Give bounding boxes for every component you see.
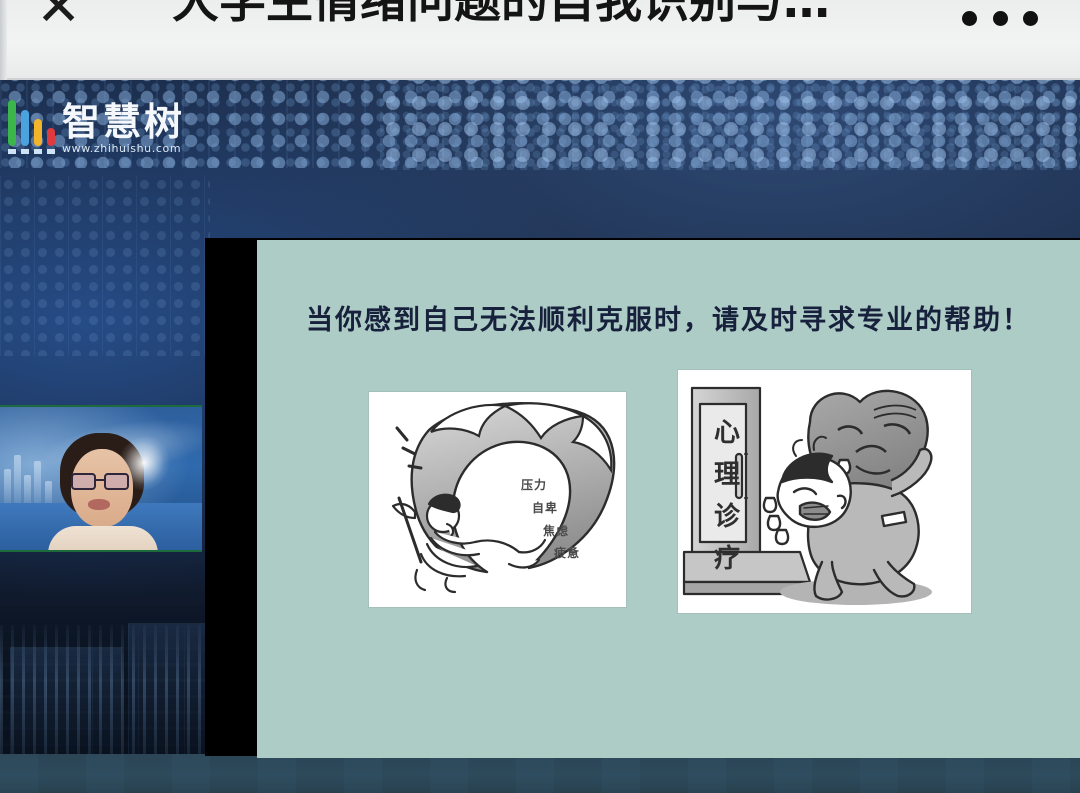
wave-label-2: 自卑 — [532, 499, 558, 516]
close-x-icon[interactable]: ✕ — [36, 0, 80, 36]
backdrop-grid-left — [0, 176, 210, 356]
brand-name: 智慧树 — [62, 102, 185, 142]
avatar — [44, 433, 162, 552]
wave-label-3: 焦虑 — [543, 522, 569, 539]
backdrop-data-dots-top-right — [380, 80, 1080, 170]
carrying-heavy-heart-to-clinic-cartoon: 心 理 诊 疗 — [678, 370, 971, 613]
clinic-sign-char-2: 理 — [704, 454, 750, 491]
slide-headline: 当你感到自己无法顺利克服时，请及时寻求专业的帮助！ — [257, 298, 1080, 337]
page-title: 大学生情绪问题的自我识别与… — [172, 0, 862, 34]
overwhelmed-by-wave-cartoon: 压力 自卑 焦虑 疲惫 — [369, 392, 626, 607]
more-dot-1 — [962, 11, 977, 26]
brand-watermark: 智慧树 www.zhihuishu.com — [6, 94, 185, 156]
wave-label-4: 疲惫 — [554, 544, 580, 561]
backdrop-bottom-band — [0, 754, 1080, 793]
presenter-webcam-thumbnail[interactable] — [0, 405, 202, 552]
video-lecture-player: ✕ 大学生情绪问题的自我识别与… — [0, 0, 1080, 793]
presenter-glasses — [71, 473, 135, 490]
presentation-slide[interactable]: 当你感到自己无法顺利克服时，请及时寻求专业的帮助！ — [257, 240, 1080, 758]
clinic-sign-char-4: 疗 — [704, 538, 750, 575]
more-dot-2 — [993, 11, 1008, 26]
wave-label-1: 压力 — [521, 476, 547, 493]
clinic-sign-char-1: 心 — [704, 412, 750, 449]
presenter-mouth — [88, 499, 110, 510]
app-titlebar: ✕ 大学生情绪问题的自我识别与… — [0, 0, 1080, 80]
more-options-icon[interactable] — [962, 2, 1038, 34]
presenter-shoulders — [48, 526, 158, 552]
bar-chart-logo-icon — [6, 100, 58, 156]
titlebar-left-edge — [0, 0, 7, 80]
clinic-sign-char-3: 诊 — [704, 496, 750, 533]
brand-url: www.zhihuishu.com — [62, 142, 185, 156]
video-stage[interactable]: 智慧树 www.zhihuishu.com 当你感到自己无法顺利克服时，请及时寻… — [0, 80, 1080, 793]
more-dot-3 — [1023, 11, 1038, 26]
